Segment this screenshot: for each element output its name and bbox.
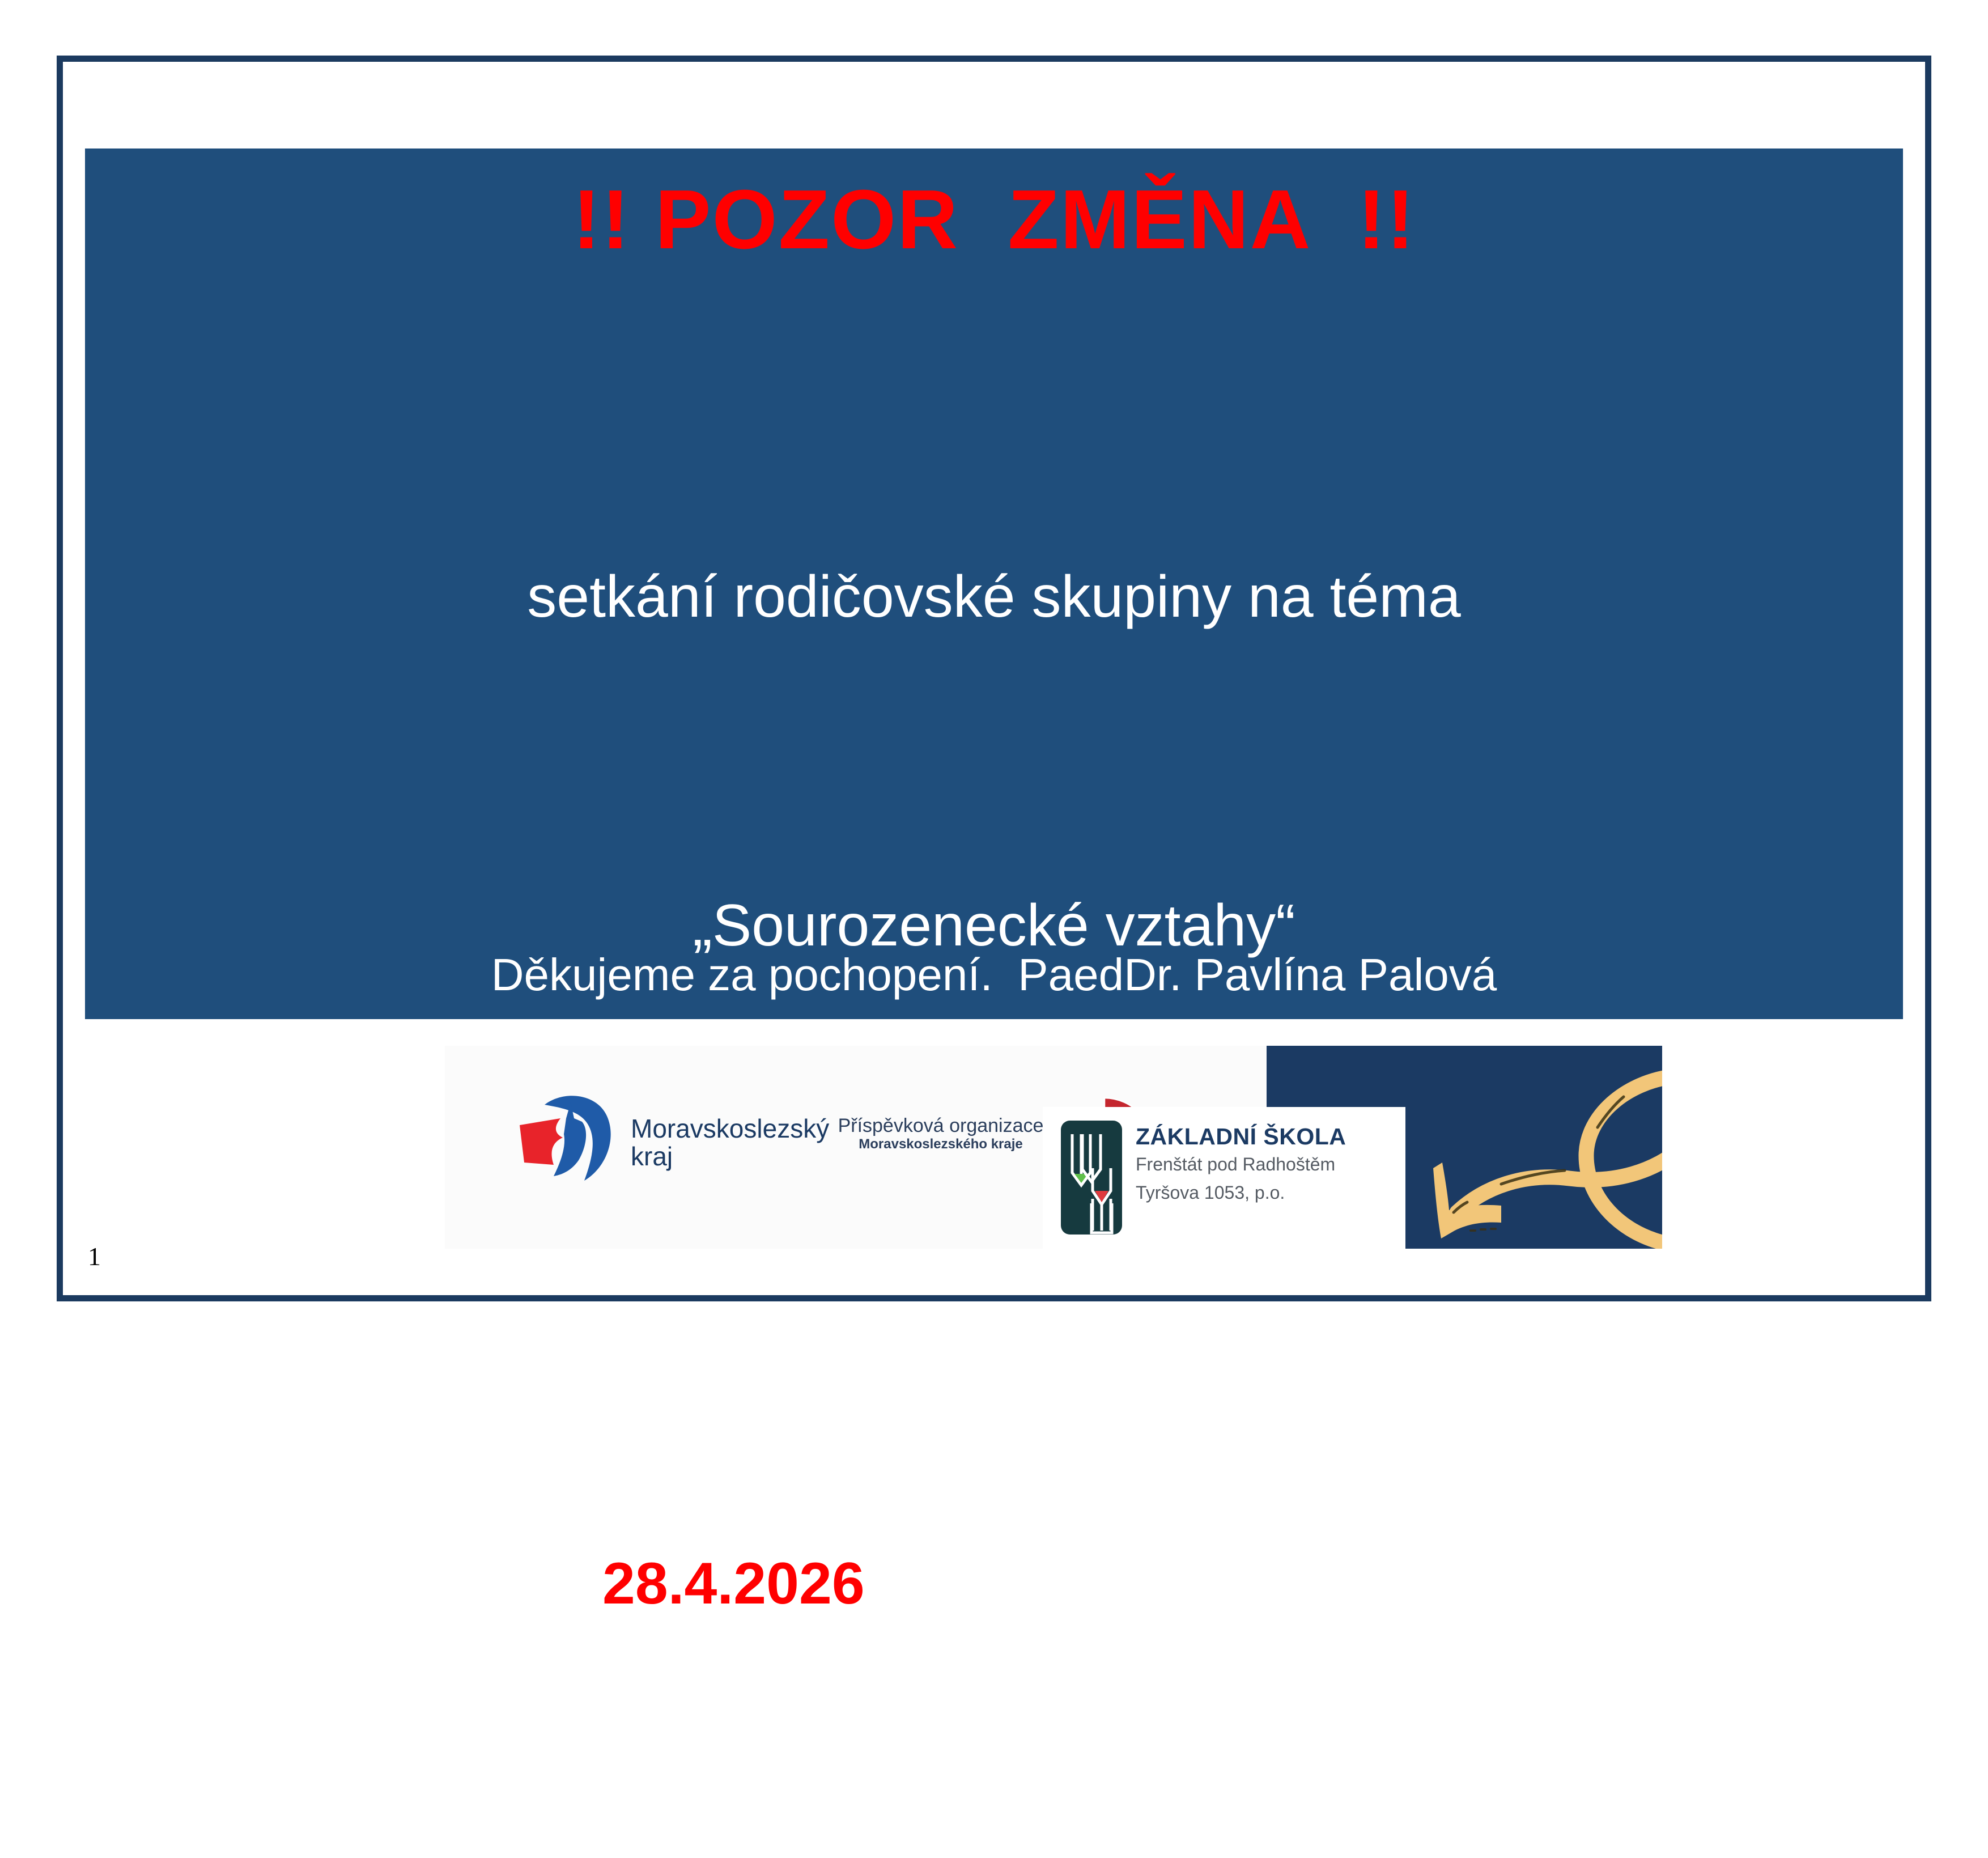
curved-arrow-icon <box>1416 1046 1662 1249</box>
notice-content: !! POZOR ZMĚNA !! setkání rodičovské sku… <box>85 149 1903 1019</box>
zakladni-skola-city: Frenštát pod Radhoštěm <box>1136 1151 1346 1179</box>
moravskoslezsky-kraj-logo: Moravskoslezskýkraj <box>512 1085 829 1193</box>
prispevkova-label: Příspěvková organizace Moravskoslezského… <box>819 1116 1063 1152</box>
pencil-school-logo-icon <box>1060 1119 1123 1236</box>
zakladni-skola-logo-card: ZÁKLADNÍ ŠKOLA Frenštát pod Radhoštěm Ty… <box>1043 1107 1405 1249</box>
notice-line-date: tedy 28.4.2026 mezi 16.00 – 19.00 hod. <box>85 1529 1903 1639</box>
zakladni-skola-label: ZÁKLADNÍ ŠKOLA Frenštát pod Radhoštěm Ty… <box>1136 1123 1346 1207</box>
moravskoslezsky-kraj-mark-icon <box>512 1085 625 1187</box>
notice-panel: !! POZOR ZMĚNA !! setkání rodičovské sku… <box>85 149 1903 1019</box>
prispevkova-line-2: Moravskoslezského kraje <box>819 1136 1063 1153</box>
footer-logo-banner: Moravskoslezskýkraj Příspěvková organiza… <box>445 1046 1662 1249</box>
date-line-suffix: mezi 16.00 – 19.00 hod. <box>865 1551 1514 1617</box>
zakladni-skola-title: ZÁKLADNÍ ŠKOLA <box>1136 1123 1346 1151</box>
date-line-prefix: tedy <box>475 1551 602 1617</box>
notice-line-topic-intro: setkání rodičovské skupiny na téma <box>85 542 1903 652</box>
msk-line-1: Moravskoslezský <box>631 1114 829 1143</box>
signature-text: Děkujeme za pochopení. PaedDr. Pavlína P… <box>85 949 1903 1001</box>
page-title: !! POZOR ZMĚNA !! <box>85 178 1903 262</box>
moravskoslezsky-kraj-label: Moravskoslezskýkraj <box>631 1115 829 1170</box>
page-number: 1 <box>88 1241 101 1271</box>
zakladni-skola-address: Tyršova 1053, p.o. <box>1136 1179 1346 1207</box>
msk-line-2: kraj <box>631 1142 673 1171</box>
prispevkova-line-1: Příspěvková organizace <box>819 1116 1063 1136</box>
event-date: 28.4.2026 <box>602 1551 865 1617</box>
